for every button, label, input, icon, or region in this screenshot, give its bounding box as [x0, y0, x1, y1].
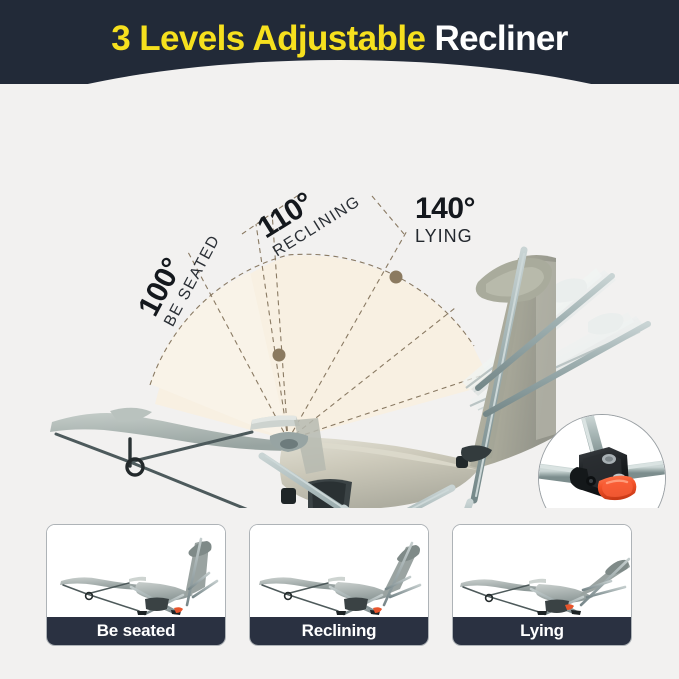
header-banner: 3 Levels Adjustable Recliner — [0, 0, 679, 84]
thumbnail-image-lying — [453, 525, 631, 617]
button-detail-callout — [538, 414, 666, 508]
page-title: 3 Levels Adjustable Recliner — [0, 18, 679, 60]
thumbnail-label-be-seated: Be seated — [47, 617, 225, 645]
angle-name-140: LYING — [415, 226, 475, 247]
thumbnail-card-lying[interactable]: Lying — [452, 524, 632, 646]
chair-reclining-illustration — [250, 525, 428, 617]
chair-lying-illustration — [453, 525, 631, 617]
angle-degrees-140: 140° — [415, 192, 475, 226]
hero-stage: 100° BE SEATED 110° RECLINING 140° LYING — [0, 84, 679, 508]
header-bottom-arc — [0, 60, 679, 84]
chair-seated-illustration — [47, 525, 225, 617]
hinge-button-illustration — [539, 415, 666, 508]
thumbnail-image-reclining — [250, 525, 428, 617]
thumbnail-card-be-seated[interactable]: Be seated — [46, 524, 226, 646]
thumbnail-label-lying: Lying — [453, 617, 631, 645]
page-title-rest: Recliner — [434, 19, 567, 58]
state-thumbnail-row: Be seated — [0, 524, 679, 654]
angle-label-140: 140° LYING — [415, 192, 475, 247]
page-title-highlight: 3 Levels Adjustable — [111, 19, 425, 58]
thumbnail-card-reclining[interactable]: Reclining — [249, 524, 429, 646]
thumbnail-label-reclining: Reclining — [250, 617, 428, 645]
thumbnail-image-be-seated — [47, 525, 225, 617]
infographic-page: 3 Levels Adjustable Recliner — [0, 0, 679, 679]
